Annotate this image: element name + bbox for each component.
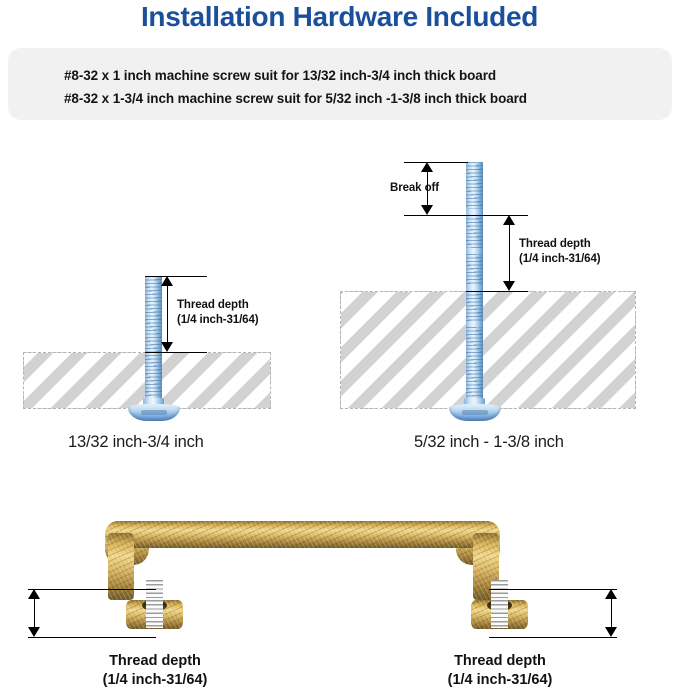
dim-arrow-up-handle-right (605, 589, 617, 599)
dim-tick-bottom-handle-right (489, 637, 617, 638)
board-cross-section-right (340, 291, 636, 409)
screw-head-short (128, 404, 180, 421)
screw-shaft-threaded-lower-2 (466, 327, 483, 398)
caption-thread-depth-handle-right: Thread depth (1/4 inch-31/64) (420, 652, 580, 690)
caption-line-1: Thread depth (420, 652, 580, 671)
caption-line-2: (1/4 inch-31/64) (75, 671, 235, 690)
dim-arrow-up-breakoff (421, 162, 433, 172)
caption-line-1: Thread depth (75, 652, 235, 671)
screw-diagram-area: Thread depth (1/4 inch-31/64) 13/32 inch… (0, 130, 679, 475)
dim-tick-top-thread-right (466, 215, 528, 216)
dim-arrow-up-left (161, 276, 173, 286)
dim-tick-top-handle-right (489, 589, 617, 590)
caption-thread-depth-handle-left: Thread depth (1/4 inch-31/64) (75, 652, 235, 690)
dim-arrow-up-handle-left (28, 589, 40, 599)
screw-shaft-threaded-short (145, 276, 162, 412)
dim-tick-top-handle-left (28, 589, 156, 590)
dim-label-line-1: Break off (390, 181, 439, 196)
dim-arrow-down-handle-right (605, 627, 617, 637)
screw-shaft-threaded-mid-2 (466, 254, 483, 285)
dim-label-line-1: Thread depth (519, 237, 601, 252)
dim-tick-bottom-left (145, 352, 207, 353)
screw-shaft-threaded-lower-1 (466, 291, 483, 321)
dim-arrow-down-handle-left (28, 627, 40, 637)
dim-label-line-2: (1/4 inch-31/64) (519, 252, 601, 267)
dim-arrow-up-right (503, 215, 515, 225)
screw-shaft-breakoff-top (466, 162, 483, 209)
screw-head-long (449, 404, 501, 421)
caption-board-thickness-left: 13/32 inch-3/4 inch (68, 433, 204, 452)
dim-arrow-down-left (161, 342, 173, 352)
spec-line-short-screw: #8-32 x 1 inch machine screw suit for 13… (64, 68, 496, 83)
dim-label-thread-depth-right: Thread depth (1/4 inch-31/64) (519, 237, 601, 267)
page-title: Installation Hardware Included (0, 1, 679, 33)
spec-line-long-screw: #8-32 x 1-3/4 inch machine screw suit fo… (64, 91, 527, 106)
dim-line-thread-depth-left (167, 278, 168, 350)
dim-tick-top-breakoff (404, 162, 468, 163)
spec-box: #8-32 x 1 inch machine screw suit for 13… (8, 48, 672, 120)
threaded-post-left-front (146, 600, 163, 628)
handle-diagram-area: Thread depth (1/4 inch-31/64) Thread dep… (0, 500, 679, 690)
caption-line-2: (1/4 inch-31/64) (420, 671, 580, 690)
dim-tick-bottom-breakoff (404, 215, 468, 216)
dim-label-line-1: Thread depth (177, 298, 259, 313)
dim-tick-bottom-thread-right (466, 291, 528, 292)
dim-label-line-2: (1/4 inch-31/64) (177, 313, 259, 328)
dim-tick-bottom-handle-left (28, 637, 156, 638)
dim-label-thread-depth-left: Thread depth (1/4 inch-31/64) (177, 298, 259, 328)
handle-bar (105, 521, 500, 548)
dim-arrow-down-right (503, 281, 515, 291)
caption-board-thickness-right: 5/32 inch - 1-3/8 inch (414, 433, 564, 452)
dim-arrow-down-breakoff (421, 205, 433, 215)
dim-tick-top-left (145, 276, 207, 277)
screw-shaft-threaded-mid-1 (466, 215, 483, 248)
dim-line-thread-depth-right (509, 217, 510, 289)
dim-label-breakoff: Break off (390, 181, 439, 196)
threaded-post-right-front (491, 600, 508, 628)
